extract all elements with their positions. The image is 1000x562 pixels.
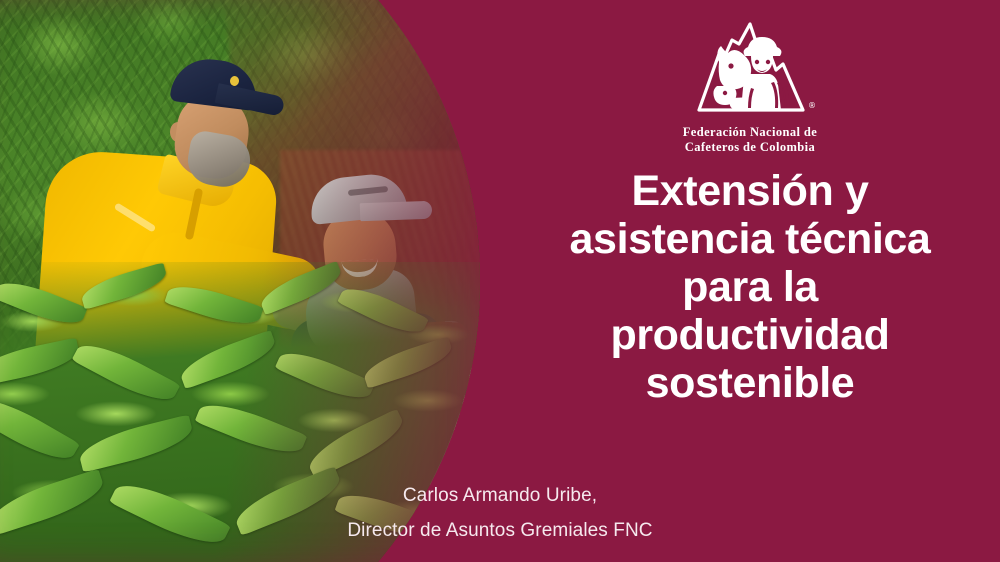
juan-valdez-mountain-icon: ® (675, 18, 825, 122)
speaker-byline: Carlos Armando Uribe, Director de Asunto… (0, 478, 1000, 548)
page-title: Extensión y asistencia técnica para la p… (515, 167, 985, 408)
registered-trademark-mark: ® (808, 101, 816, 110)
fnc-logo: ® Federación Nacional de Cafeteros de Co… (666, 18, 834, 155)
presentation-slide: ® Federación Nacional de Cafeteros de Co… (0, 0, 1000, 562)
fnc-logo-text: Federación Nacional de Cafeteros de Colo… (683, 125, 817, 155)
